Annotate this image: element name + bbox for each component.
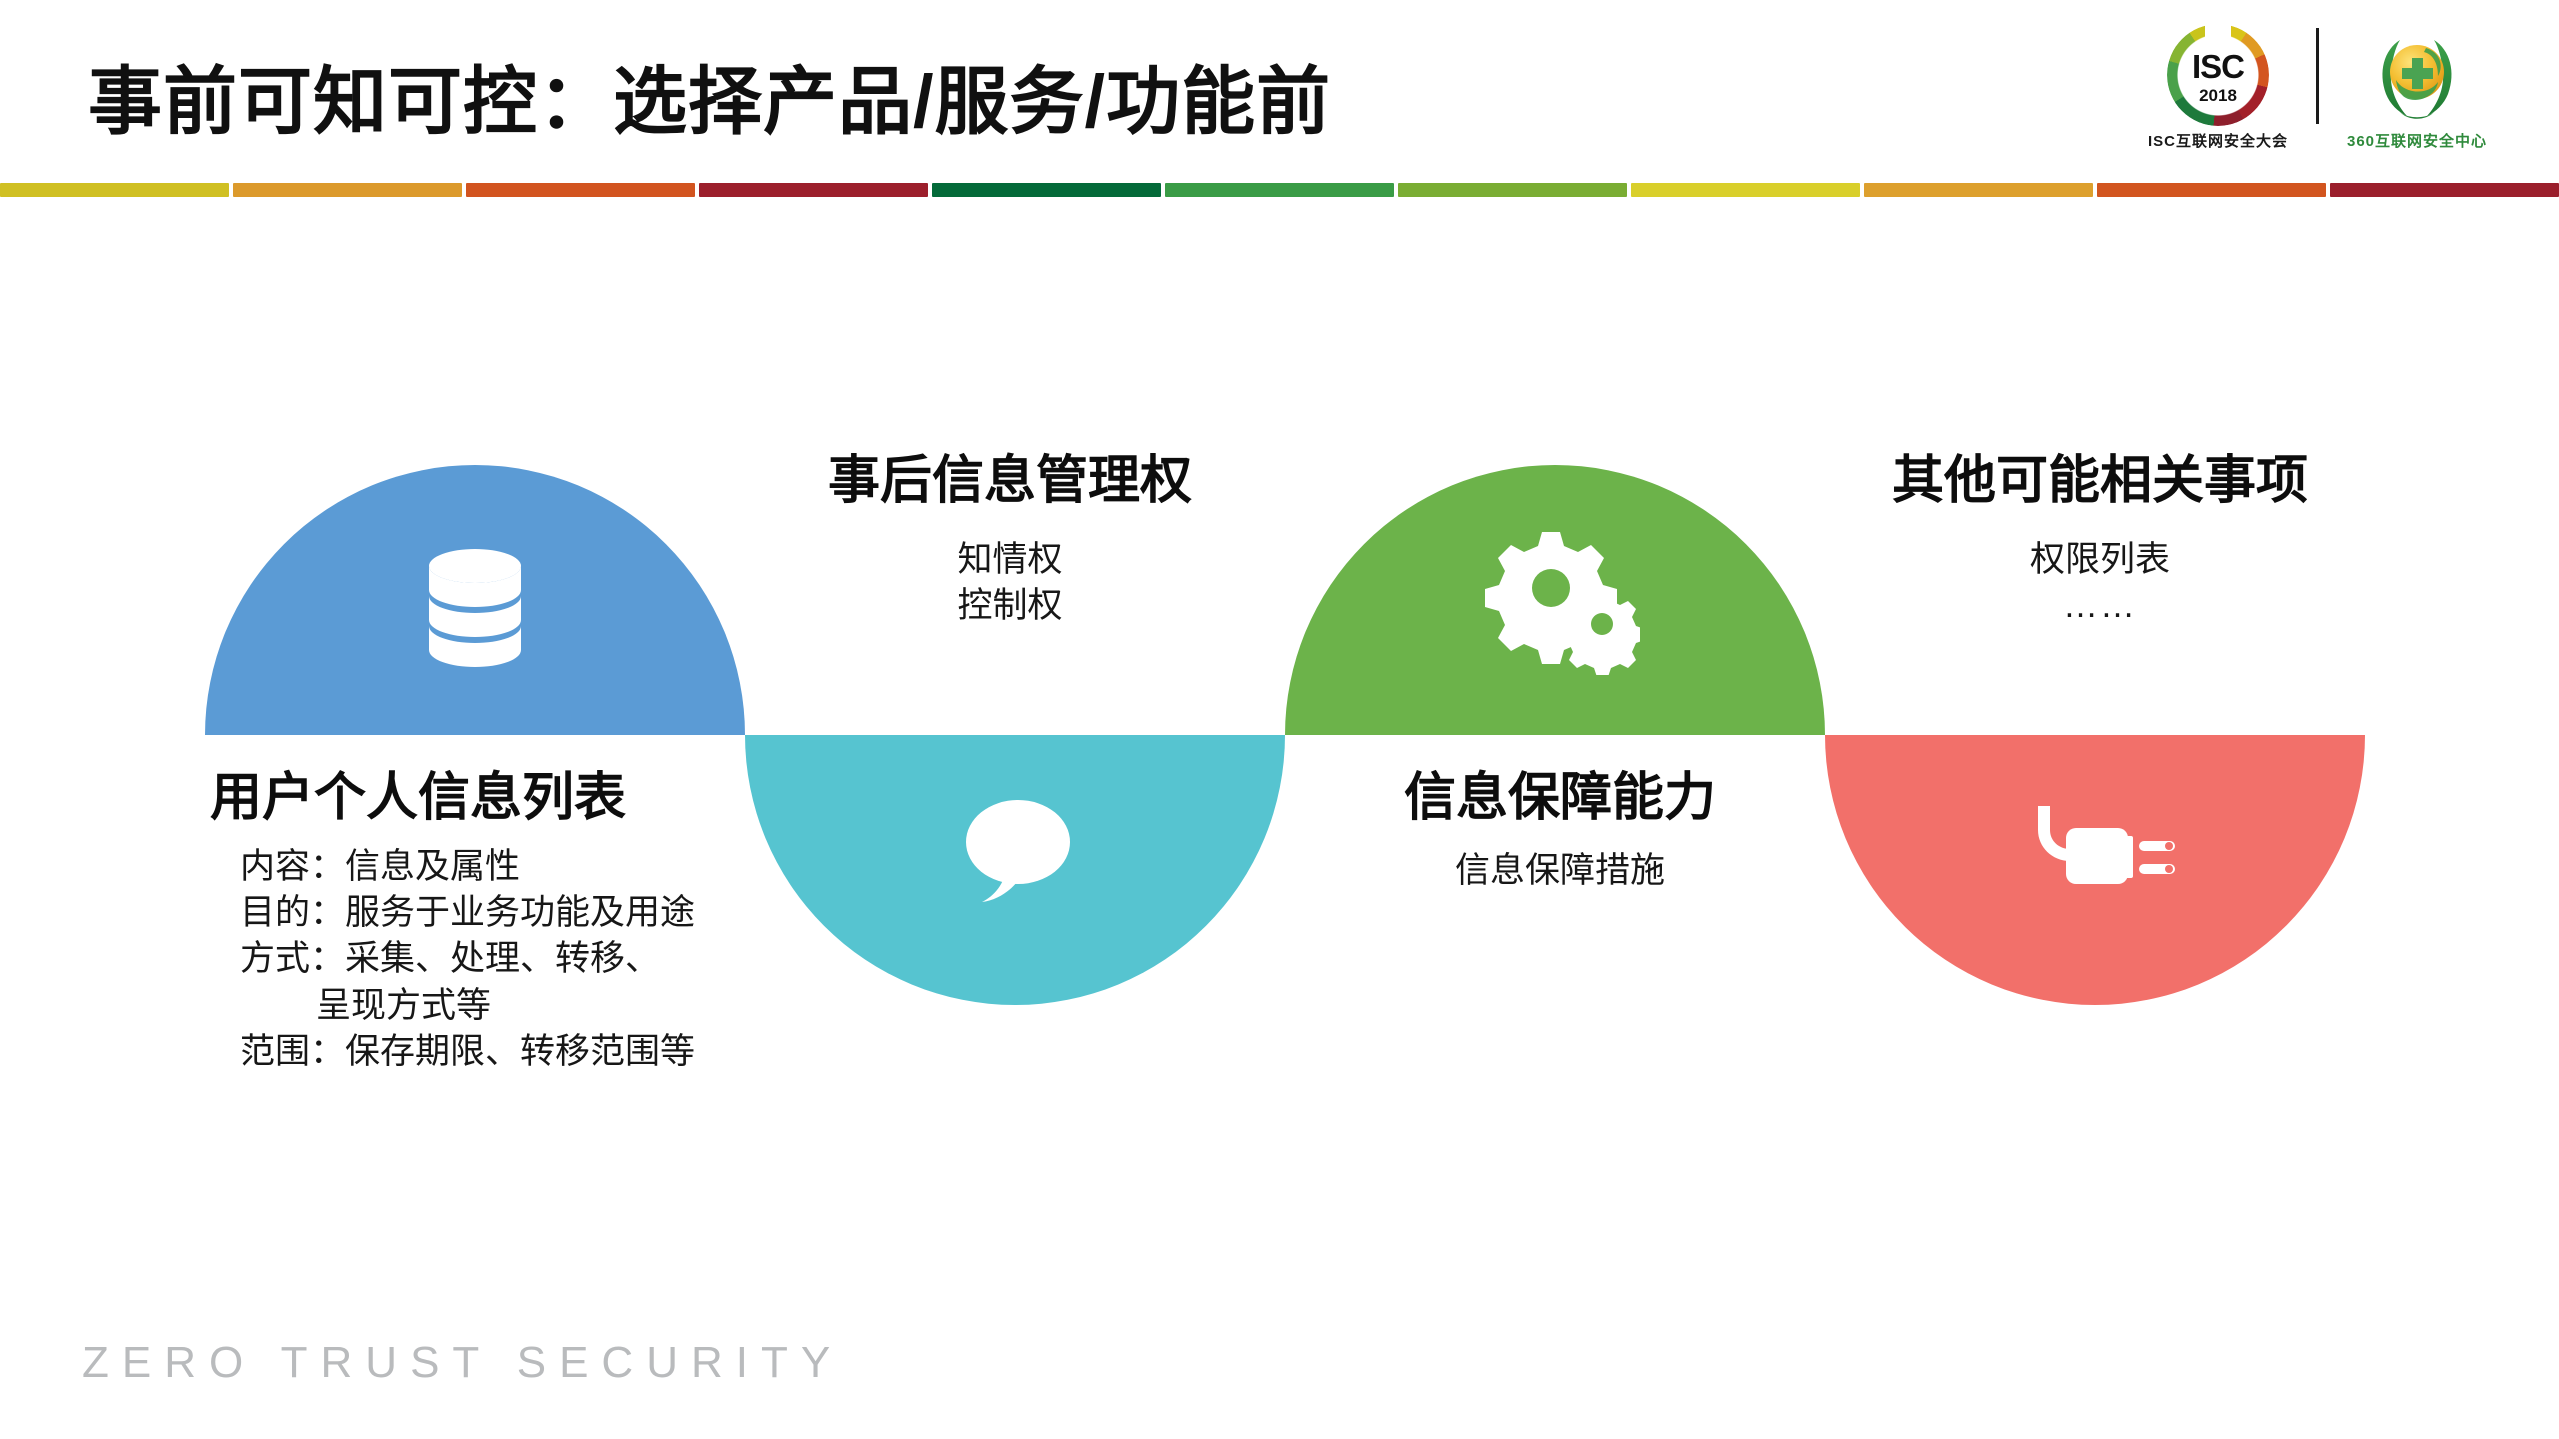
database-icon xyxy=(410,540,540,670)
speech-bubble-icon xyxy=(950,790,1080,920)
isc-logo-year: 2018 xyxy=(2167,86,2269,106)
divider-segment-8 xyxy=(1631,183,1860,197)
divider-segment-5 xyxy=(932,183,1161,197)
section-4-line-2: …… xyxy=(1790,583,2410,629)
section-2-line-2: 控制权 xyxy=(700,583,1320,629)
divider-segment-2 xyxy=(233,183,462,197)
section-2-text: 事后信息管理权 知情权 控制权 xyxy=(700,438,1320,629)
isc-ring-icon: ISC 2018 xyxy=(2167,24,2269,126)
page-title: 事前可知可控：选择产品/服务/功能前 xyxy=(88,42,1331,149)
section-4-lines: 权限列表 …… xyxy=(1790,537,2410,629)
isc-logo-caption: ISC互联网安全大会 xyxy=(2148,130,2288,151)
section-4-line-1: 权限列表 xyxy=(1790,537,2410,583)
section-3-title: 信息保障能力 xyxy=(1260,755,1860,830)
section-4-title: 其他可能相关事项 xyxy=(1790,438,2410,513)
section-4-text: 其他可能相关事项 权限列表 …… xyxy=(1790,438,2410,629)
qihoo360-logo: 360互联网安全中心 xyxy=(2337,24,2497,151)
gears-icon xyxy=(1480,530,1640,675)
logo-group: ISC 2018 ISC互联网安全大会 xyxy=(2138,24,2497,151)
section-1-line-4: 呈现方式等 xyxy=(210,983,910,1029)
divider-segment-3 xyxy=(466,183,695,197)
isc-logo: ISC 2018 ISC互联网安全大会 xyxy=(2138,24,2298,151)
divider-segment-4 xyxy=(699,183,928,197)
color-divider-bar xyxy=(0,183,2559,197)
section-1-line-3: 方式：采集、处理、转移、 xyxy=(210,936,910,982)
wave-diagram: 用户个人信息列表 内容：信息及属性 目的：服务于业务功能及用途 方式：采集、处理… xyxy=(0,200,2559,1300)
logo-divider xyxy=(2316,28,2319,124)
section-3-lines: 信息保障措施 xyxy=(1260,848,1860,894)
footer-brand: ZERO TRUST SECURITY xyxy=(82,1338,843,1388)
shield-globe-laurel-icon xyxy=(2366,24,2468,126)
divider-segment-1 xyxy=(0,183,229,197)
divider-segment-9 xyxy=(1864,183,2093,197)
section-3-text: 信息保障能力 信息保障措施 xyxy=(1260,755,1860,894)
section-2-line-1: 知情权 xyxy=(700,537,1320,583)
divider-segment-7 xyxy=(1398,183,1627,197)
divider-segment-10 xyxy=(2097,183,2326,197)
qihoo360-logo-caption: 360互联网安全中心 xyxy=(2347,130,2487,151)
section-3-line-1: 信息保障措施 xyxy=(1260,848,1860,894)
slide-header: 事前可知可控：选择产品/服务/功能前 ISC 2018 ISC互联网安全大会 xyxy=(0,0,2559,180)
section-2-lines: 知情权 控制权 xyxy=(700,537,1320,629)
divider-segment-11 xyxy=(2330,183,2559,197)
power-plug-icon xyxy=(2028,800,2178,910)
section-1-line-5: 范围：保存期限、转移范围等 xyxy=(210,1029,910,1075)
divider-segment-6 xyxy=(1165,183,1394,197)
section-2-title: 事后信息管理权 xyxy=(700,438,1320,513)
isc-logo-text: ISC xyxy=(2167,48,2269,86)
